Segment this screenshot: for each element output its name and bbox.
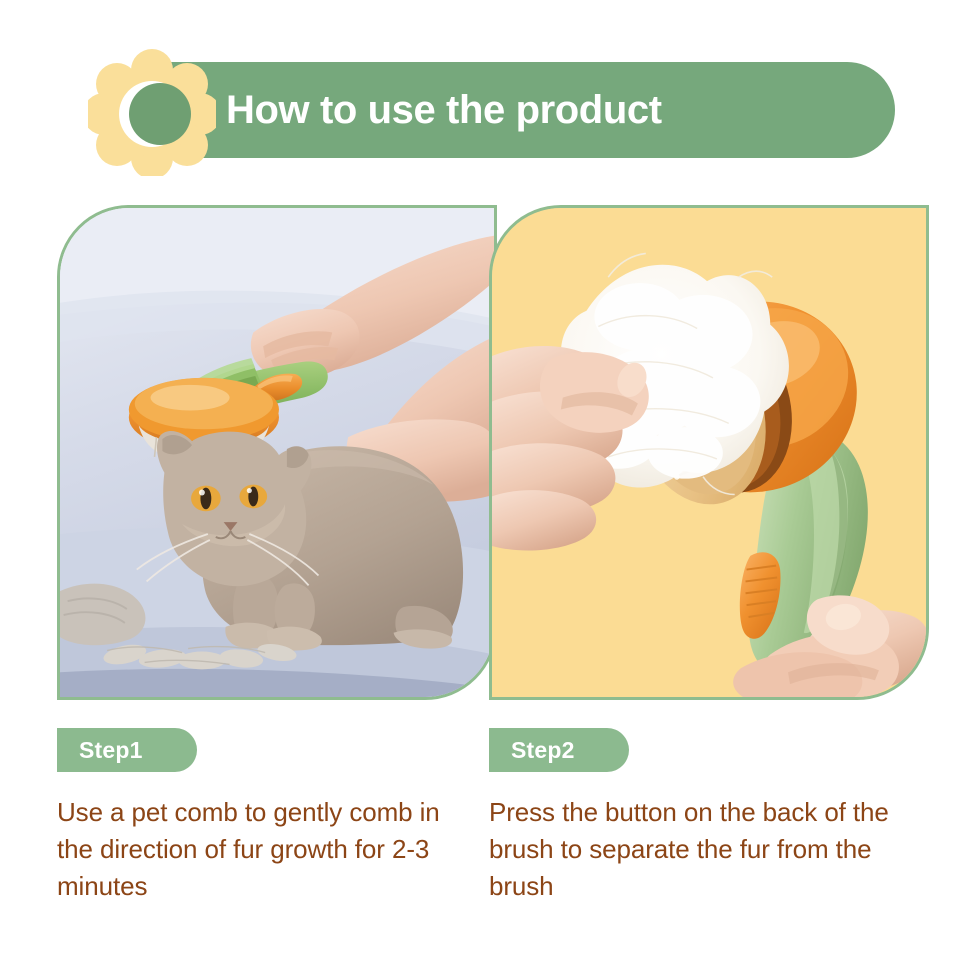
step-block-2: Step2 Press the button on the back of th…: [489, 728, 909, 905]
cat-grooming-photo: [60, 208, 494, 697]
step-block-1: Step1 Use a pet comb to gently comb in t…: [57, 728, 477, 905]
flower-badge-icon: [88, 48, 216, 176]
step-badge-2: Step2: [489, 728, 629, 772]
step-description-1: Use a pet comb to gently comb in the dir…: [57, 794, 457, 905]
steps-row: Step1 Use a pet comb to gently comb in t…: [0, 728, 960, 948]
step-badge-1: Step1: [57, 728, 197, 772]
page-header: How to use the product: [0, 40, 960, 180]
product-instruction-page: How to use the product: [0, 0, 960, 960]
photo-step-2: [489, 205, 929, 700]
step-description-2: Press the button on the back of the brus…: [489, 794, 889, 905]
brush-fur-release-photo: [492, 208, 926, 697]
page-title: How to use the product: [226, 62, 866, 158]
photo-step-1: [57, 205, 497, 700]
photo-row: [0, 205, 960, 705]
